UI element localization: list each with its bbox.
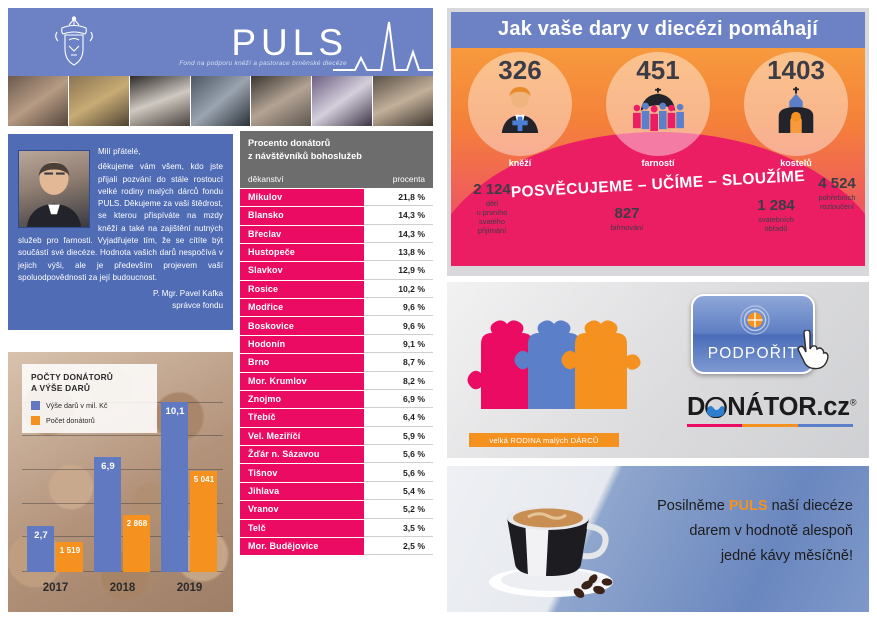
table-row: Znojmo6,9 % — [240, 391, 433, 408]
x-tick-label: 2018 — [91, 578, 153, 604]
stat-religion-students: 13 279 dětí a mládežev náboženství — [655, 204, 739, 239]
table-row: Vranov5,2 % — [240, 501, 433, 518]
table-row: Telč3,5 % — [240, 520, 433, 537]
table-row: Blansko14,3 % — [240, 207, 433, 224]
photo-thumb — [69, 76, 129, 126]
support-button-label: PODPOŘIT — [708, 345, 799, 363]
deanery-name: Blansko — [240, 207, 364, 224]
coffee-cup-icon — [473, 484, 633, 602]
puzzle-caption: velká RODINA malých DÁRCŮ — [469, 433, 619, 447]
table-row: Modřice9,6 % — [240, 299, 433, 316]
donation-target-icon — [739, 304, 771, 336]
circle-value: 326 — [498, 57, 541, 83]
deanery-name: Vel. Meziříčí — [240, 428, 364, 445]
donors-chart: 2,7 1 519 6,9 2 868 10,1 — [8, 352, 233, 612]
bar-amount-2019: 10,1 — [161, 402, 188, 572]
deanery-percent: 5,9 % — [364, 428, 433, 445]
impact-circle-churches: 1403 kostelů — [744, 52, 848, 168]
circle-value: 451 — [636, 57, 679, 83]
deanery-percent: 8,2 % — [364, 373, 433, 390]
impact-circle-parishes: 451 — [606, 52, 710, 168]
impact-stats: 2 124 dětíu prvníhosvatéhopřijímání 4 44… — [457, 174, 859, 262]
brand-title: PULS — [231, 22, 348, 64]
photo-thumb — [251, 76, 311, 126]
puzzle-family-icon — [465, 300, 653, 442]
table-header-row: děkanství procenta — [240, 170, 433, 188]
heartbeat-line-icon — [333, 18, 433, 76]
donator-color-bar — [687, 424, 853, 427]
stat-value: 827 — [597, 206, 657, 222]
deanery-name: Boskovice — [240, 317, 364, 334]
table-row: Třebíč6,4 % — [240, 409, 433, 426]
table-row: Mor. Krumlov8,2 % — [240, 373, 433, 390]
table-row: Boskovice9,6 % — [240, 317, 433, 334]
coffee-message: Posilněme PULS naší diecéze darem v hodn… — [657, 494, 853, 569]
table-row: Jihlava5,4 % — [240, 483, 433, 500]
stat-label: svatebníchobřadů — [745, 215, 807, 233]
infographic-page: PULS Fond na podporu kněží a pastorace b… — [0, 0, 877, 620]
donator-letter-d: D — [687, 393, 705, 421]
deanery-percent: 5,4 % — [364, 483, 433, 500]
deanery-name: Vranov — [240, 501, 364, 518]
stat-value: 2 124 — [461, 182, 523, 198]
bar-label: 1 519 — [56, 546, 83, 555]
bar-label: 5 041 — [190, 475, 217, 484]
deanery-percent: 9,1 % — [364, 336, 433, 353]
church-icon — [772, 83, 820, 133]
deaneries-table: Procento donátorů z návštěvníků bohosluž… — [240, 131, 433, 555]
photo-thumb — [373, 76, 433, 126]
table-row: Slavkov12,9 % — [240, 262, 433, 279]
stat-value: 1 284 — [745, 198, 807, 214]
bar-label: 2 868 — [123, 519, 150, 528]
legend-label: Výše darů v mil. Kč — [46, 401, 108, 410]
stat-baptisms: 4 445 křtů — [527, 202, 589, 228]
deanery-percent: 6,4 % — [364, 409, 433, 426]
deanery-name: Znojmo — [240, 391, 364, 408]
bar-segment-pink — [687, 424, 742, 427]
chart-legend: POČTY DONÁTORŮ A VÝŠE DARŮ Výše darů v m… — [22, 364, 157, 433]
donator-rest: NÁTOR.cz — [727, 393, 850, 421]
impact-circles: 326 kněží — [451, 52, 865, 168]
congregation-icon — [627, 83, 689, 133]
coffee-brand: PULS — [729, 498, 768, 514]
registered-mark: ® — [850, 398, 856, 408]
x-tick-label: 2017 — [24, 578, 86, 604]
deanery-percent: 14,3 % — [364, 226, 433, 243]
impact-title: Jak vaše dary v diecézi pomáhají — [451, 12, 865, 48]
table-title: Procento donátorů z návštěvníků bohosluž… — [240, 131, 433, 170]
stat-first-communion: 2 124 dětíu prvníhosvatéhopřijímání — [461, 182, 523, 235]
chart-x-axis: 2017 2018 2019 — [22, 578, 223, 604]
letter-signature-role: správce fondu — [18, 300, 223, 312]
deanery-name: Žďár n. Sázavou — [240, 446, 364, 463]
deanery-percent: 6,9 % — [364, 391, 433, 408]
deanery-name: Hodonín — [240, 336, 364, 353]
deanery-name: Modřice — [240, 299, 364, 316]
photo-strip — [8, 76, 433, 126]
coffee-line1-post: naší diecéze — [768, 498, 853, 514]
deanery-name: Tišnov — [240, 464, 364, 481]
deanery-name: Brno — [240, 354, 364, 371]
x-tick-label: 2019 — [158, 578, 220, 604]
coffee-line1-pre: Posilněme — [657, 498, 729, 514]
table-title-line1: Procento donátorů — [248, 137, 425, 150]
table-row: Břeclav14,3 % — [240, 226, 433, 243]
photo-thumb — [191, 76, 251, 126]
deanery-name: Jihlava — [240, 483, 364, 500]
photo-thumb — [312, 76, 372, 126]
deanery-name: Rosice — [240, 281, 364, 298]
photo-thumb — [130, 76, 190, 126]
table-row: Mor. Budějovice2,5 % — [240, 538, 433, 555]
column-header-deanery: děkanství — [240, 170, 364, 188]
table-row: Brno8,7 % — [240, 354, 433, 371]
legend-item-donors: Počet donátorů — [31, 416, 148, 425]
table-row: Rosice10,2 % — [240, 281, 433, 298]
table-body: Mikulov21,8 %Blansko14,3 %Břeclav14,3 %H… — [240, 189, 433, 556]
legend-swatch-orange — [31, 416, 40, 425]
brand-subtitle: Fond na podporu kněží a pastorace brněns… — [179, 60, 347, 67]
deanery-name: Břeclav — [240, 226, 364, 243]
deanery-percent: 3,5 % — [364, 520, 433, 537]
coat-of-arms-icon — [48, 16, 100, 70]
bar-donors-2017: 1 519 — [56, 542, 83, 572]
table-title-line2: z návštěvníků bohoslužeb — [248, 150, 425, 163]
thank-you-letter: Milí přátelé, děkujeme vám všem, kdo jst… — [8, 134, 233, 330]
table-row: Mikulov21,8 % — [240, 189, 433, 206]
deanery-percent: 5,6 % — [364, 464, 433, 481]
avatar — [18, 150, 90, 228]
table-row: Tišnov5,6 % — [240, 464, 433, 481]
stat-label: dětí a mládežev náboženství — [655, 221, 739, 239]
coffee-line-2: darem v hodnotě alespoň — [657, 519, 853, 544]
deanery-percent: 8,7 % — [364, 354, 433, 371]
deanery-percent: 2,5 % — [364, 538, 433, 555]
donator-logo[interactable]: D NÁTOR.cz® — [687, 395, 857, 427]
photo-thumb — [8, 76, 68, 126]
legend-swatch-blue — [31, 401, 40, 410]
bar-donors-2018: 2 868 — [123, 515, 150, 572]
coffee-line-3: jedné kávy měsíčně! — [657, 544, 853, 569]
table-row: Žďár n. Sázavou5,6 % — [240, 446, 433, 463]
bar-label: 10,1 — [161, 406, 188, 417]
circle-label: kněží — [468, 158, 572, 168]
coffee-line-1: Posilněme PULS naší diecéze — [657, 494, 853, 519]
deanery-percent: 5,2 % — [364, 501, 433, 518]
brand-header: PULS Fond na podporu kněží a pastorace b… — [8, 8, 433, 126]
bar-segment-blue — [798, 424, 853, 427]
deanery-name: Hustopeče — [240, 244, 364, 261]
table-row: Hodonín9,1 % — [240, 336, 433, 353]
impact-panel: Jak vaše dary v diecézi pomáhají 326 — [447, 8, 869, 276]
deanery-percent: 9,6 % — [364, 299, 433, 316]
bar-segment-orange — [742, 424, 797, 427]
stat-label: biřmování — [597, 223, 657, 232]
deanery-percent: 10,2 % — [364, 281, 433, 298]
deanery-percent: 9,6 % — [364, 317, 433, 334]
table-row: Vel. Meziříčí5,9 % — [240, 428, 433, 445]
column-header-percent: procenta — [364, 170, 433, 188]
circle-bubble: 1403 — [744, 52, 848, 156]
deanery-percent: 14,3 % — [364, 207, 433, 224]
stat-label: křtů — [527, 219, 589, 228]
deanery-name: Telč — [240, 520, 364, 537]
deanery-percent: 12,9 % — [364, 262, 433, 279]
priest-icon — [497, 83, 543, 133]
stat-value: 4 524 — [805, 176, 865, 192]
chart-title-line1: POČTY DONÁTORŮ — [31, 372, 148, 383]
bar-label: 6,9 — [94, 461, 121, 472]
stat-funerals: 4 524 pohřebníchrozloučení — [805, 176, 865, 211]
coffee-cta-panel: Posilněme PULS naší diecéze darem v hodn… — [447, 466, 869, 612]
circle-value: 1403 — [767, 57, 825, 83]
circle-bubble: 451 — [606, 52, 710, 156]
bar-amount-2017: 2,7 — [27, 526, 54, 572]
bar-donors-2019: 5 041 — [190, 471, 217, 572]
letter-signature-name: P. Mgr. Pavel Kafka — [18, 288, 223, 300]
wave-circle-icon — [705, 397, 727, 418]
promo-panel: velká RODINA malých DÁRCŮ PODPOŘIT D NÁT… — [447, 282, 869, 458]
legend-label: Počet donátorů — [46, 416, 95, 425]
bar-group-2019: 10,1 5 041 — [158, 374, 220, 572]
circle-bubble: 326 — [468, 52, 572, 156]
circle-label: farností — [606, 158, 710, 168]
donator-wordmark: D NÁTOR.cz® — [687, 395, 857, 421]
stat-value: 4 445 — [527, 202, 589, 218]
stat-label: dětíu prvníhosvatéhopřijímání — [461, 199, 523, 235]
deanery-name: Mor. Budějovice — [240, 538, 364, 555]
deanery-name: Mikulov — [240, 189, 364, 206]
impact-circle-priests: 326 kněží — [468, 52, 572, 168]
impact-body: 326 kněží — [451, 48, 865, 266]
stat-confirmations: 827 biřmování — [597, 206, 657, 232]
deanery-name: Slavkov — [240, 262, 364, 279]
legend-item-amount: Výše darů v mil. Kč — [31, 401, 148, 410]
deanery-name: Mor. Krumlov — [240, 373, 364, 390]
deanery-percent: 21,8 % — [364, 189, 433, 206]
bar-amount-2018: 6,9 — [94, 457, 121, 572]
deanery-percent: 5,6 % — [364, 446, 433, 463]
stat-label: pohřebníchrozloučení — [805, 193, 865, 211]
bar-label: 2,7 — [27, 530, 54, 541]
chart-title-line2: A VÝŠE DARŮ — [31, 383, 148, 394]
stat-weddings: 1 284 svatebníchobřadů — [745, 198, 807, 233]
deanery-percent: 13,8 % — [364, 244, 433, 261]
stat-value: 13 279 — [655, 204, 739, 220]
table-row: Hustopeče13,8 % — [240, 244, 433, 261]
hand-pointer-icon — [795, 330, 829, 370]
deanery-name: Třebíč — [240, 409, 364, 426]
